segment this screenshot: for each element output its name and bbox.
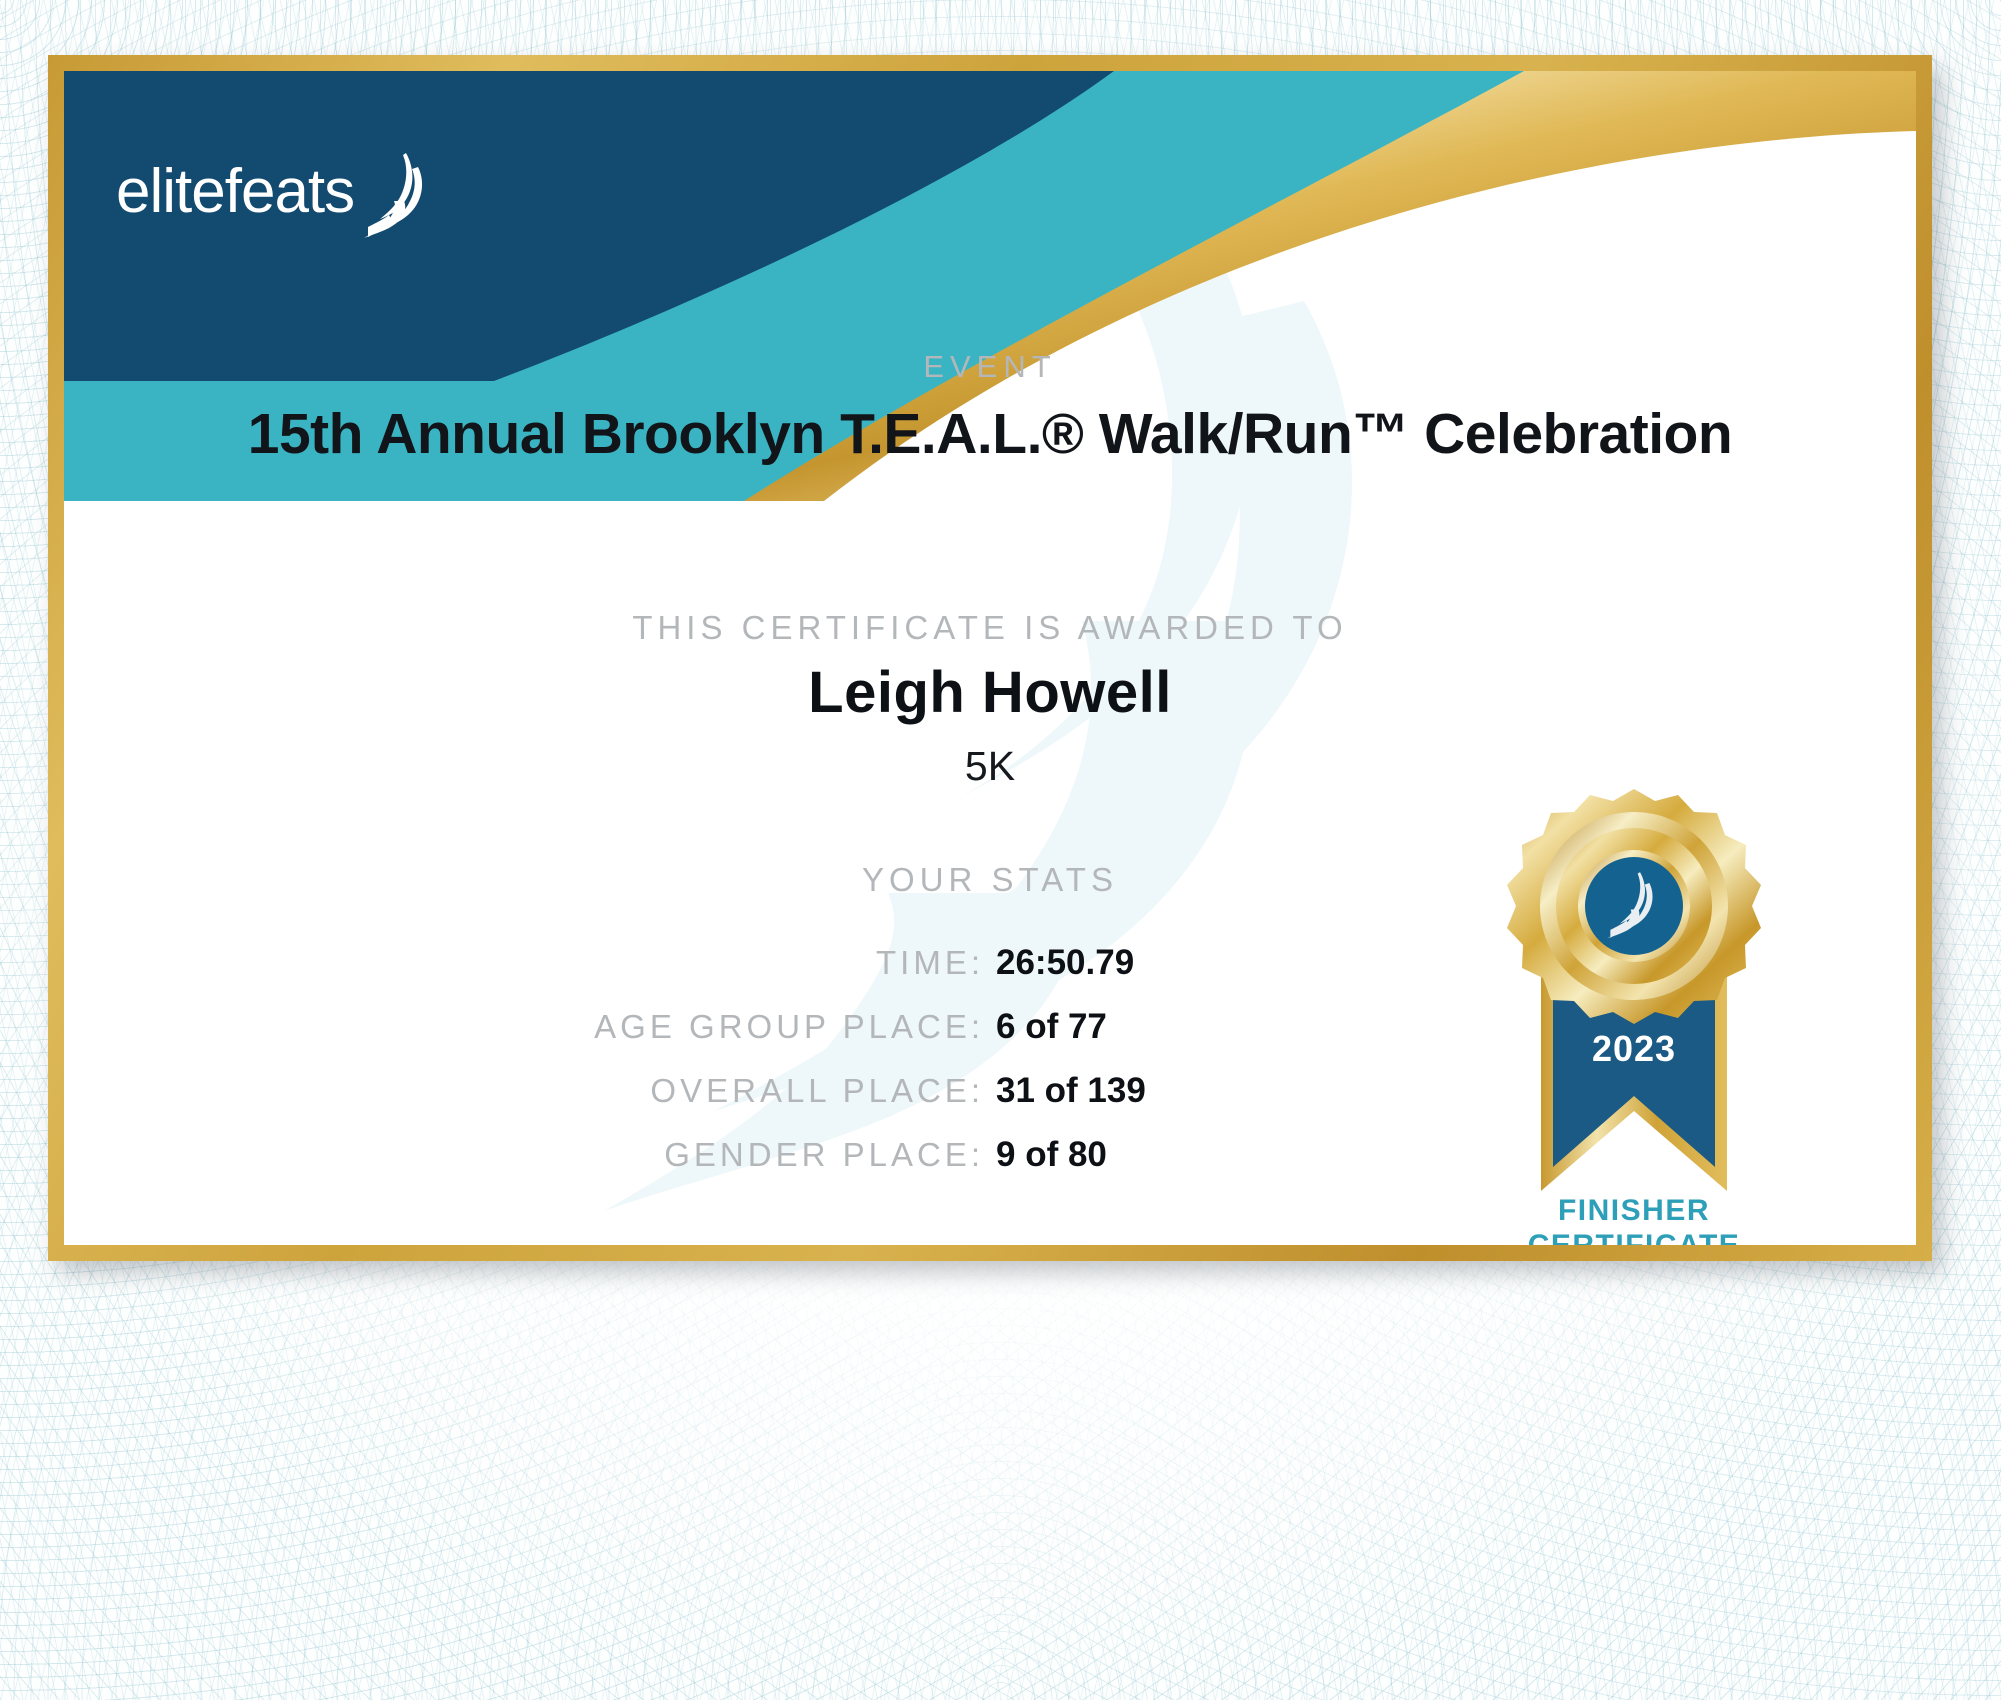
stat-value: 31 of 139 <box>996 1071 1516 1111</box>
stat-value: 26:50.79 <box>996 943 1516 983</box>
badge-caption: FINISHER CERTIFICATE <box>1469 1193 1799 1245</box>
stat-value: 6 of 77 <box>996 1007 1516 1047</box>
badge-caption-line2: CERTIFICATE <box>1469 1228 1799 1245</box>
stat-key: GENDER PLACE: <box>464 1136 996 1174</box>
elitefeats-logo: elitefeats <box>116 149 434 227</box>
recipient-name: Leigh Howell <box>64 659 1916 726</box>
certificate-body: elitefeats EVENT 15th Annual Brooklyn T.… <box>64 71 1916 1245</box>
stat-key: AGE GROUP PLACE: <box>464 1008 996 1046</box>
stat-key: OVERALL PLACE: <box>464 1072 996 1110</box>
finisher-medal-badge: 2023 <box>1469 771 1799 1245</box>
certificate-card: elitefeats EVENT 15th Annual Brooklyn T.… <box>48 55 1932 1261</box>
logo-wordmark: elitefeats <box>116 156 354 227</box>
stat-key: TIME: <box>464 944 996 982</box>
winged-foot-icon <box>356 149 434 241</box>
badge-caption-line1: FINISHER <box>1469 1193 1799 1228</box>
awarded-to-label: THIS CERTIFICATE IS AWARDED TO <box>64 609 1916 647</box>
event-label: EVENT <box>64 349 1916 385</box>
event-title: 15th Annual Brooklyn T.E.A.L.® Walk/Run™… <box>64 401 1916 467</box>
badge-year: 2023 <box>1592 1028 1676 1069</box>
stat-value: 9 of 80 <box>996 1135 1516 1175</box>
